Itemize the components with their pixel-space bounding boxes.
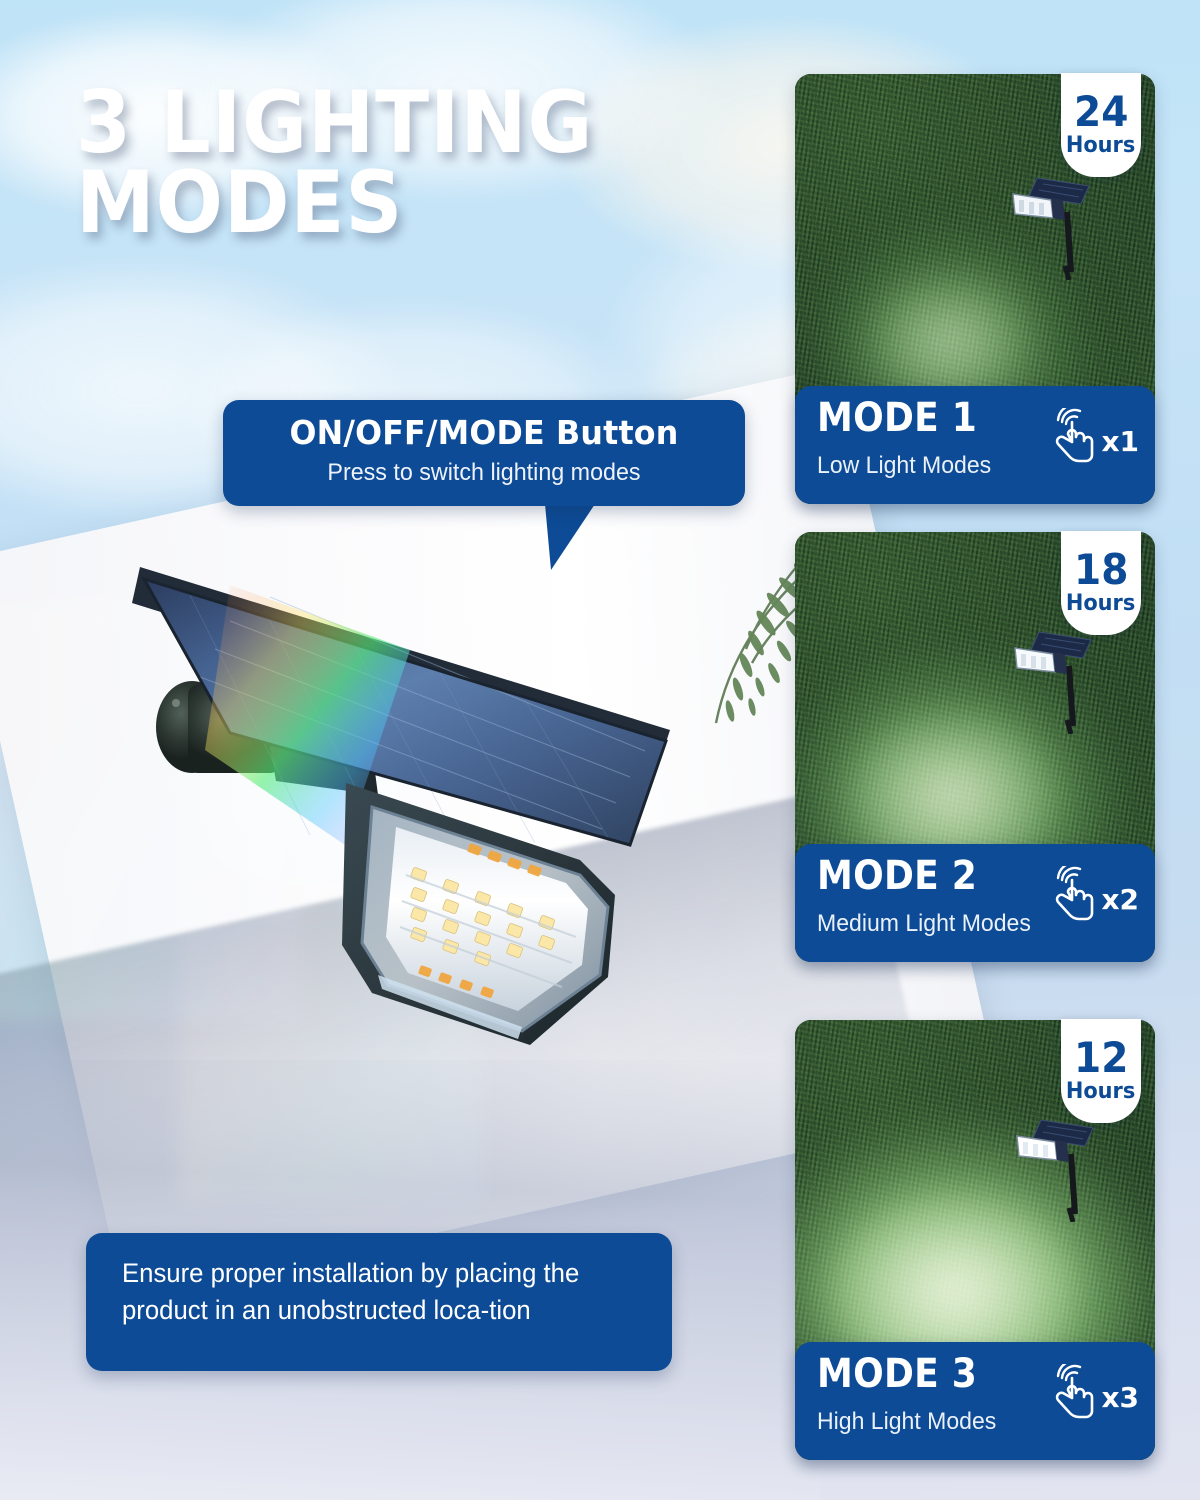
runtime-unit: Hours (1066, 591, 1135, 616)
tap-gesture-icon (1046, 1364, 1098, 1420)
tap-indicator: x3 (1046, 1364, 1139, 1420)
callout-subtitle: Press to switch lighting modes (231, 452, 737, 487)
installation-note-text: Ensure proper installation by placing th… (122, 1255, 623, 1328)
tap-indicator: x2 (1046, 866, 1139, 922)
callout-title: ON/OFF/MODE Button (233, 400, 734, 452)
page-title: 3 LIGHTING MODES (76, 84, 702, 244)
mode-card[interactable]: 12 Hours MODE 3 High Light Modes x3 (795, 1020, 1155, 1460)
mode-subtitle: Low Light Modes (817, 454, 991, 478)
page-title-line2: MODES (76, 164, 702, 244)
runtime-badge: 18 Hours (1061, 531, 1141, 635)
mode-card[interactable]: 24 Hours MODE 1 Low Light Modes x1 (795, 74, 1155, 504)
mode-card[interactable]: 18 Hours MODE 2 Medium Light Modes x2 (795, 532, 1155, 962)
mode-title: MODE 2 (817, 856, 977, 896)
mode-label-strip: MODE 2 Medium Light Modes x2 (795, 844, 1155, 962)
tap-count: x2 (1101, 886, 1139, 922)
mode-title: MODE 1 (817, 398, 977, 438)
tap-count: x3 (1101, 1384, 1139, 1420)
solar-spot-lamp-icon (1011, 1112, 1097, 1222)
tap-count: x1 (1101, 428, 1139, 464)
solar-spot-lamp-icon (1007, 170, 1093, 280)
mode-title: MODE 3 (817, 1354, 977, 1394)
runtime-hours: 12 (1074, 1038, 1128, 1078)
mode-subtitle: High Light Modes (817, 1410, 996, 1434)
mode-label-strip: MODE 1 Low Light Modes x1 (795, 386, 1155, 504)
tap-gesture-icon (1046, 866, 1098, 922)
solar-spot-lamp-icon (1009, 624, 1095, 734)
tap-indicator: x1 (1046, 408, 1139, 464)
mode-subtitle: Medium Light Modes (817, 912, 1031, 936)
runtime-unit: Hours (1066, 133, 1135, 158)
runtime-unit: Hours (1066, 1079, 1135, 1104)
solar-wall-light-product (110, 545, 730, 1065)
tap-gesture-icon (1046, 408, 1098, 464)
mode-label-strip: MODE 3 High Light Modes x3 (795, 1342, 1155, 1460)
runtime-hours: 18 (1074, 550, 1128, 590)
button-callout: ON/OFF/MODE Button Press to switch light… (223, 400, 745, 506)
runtime-hours: 24 (1074, 92, 1128, 132)
runtime-badge: 12 Hours (1061, 1019, 1141, 1123)
installation-note: Ensure proper installation by placing th… (86, 1233, 672, 1371)
runtime-badge: 24 Hours (1061, 73, 1141, 177)
